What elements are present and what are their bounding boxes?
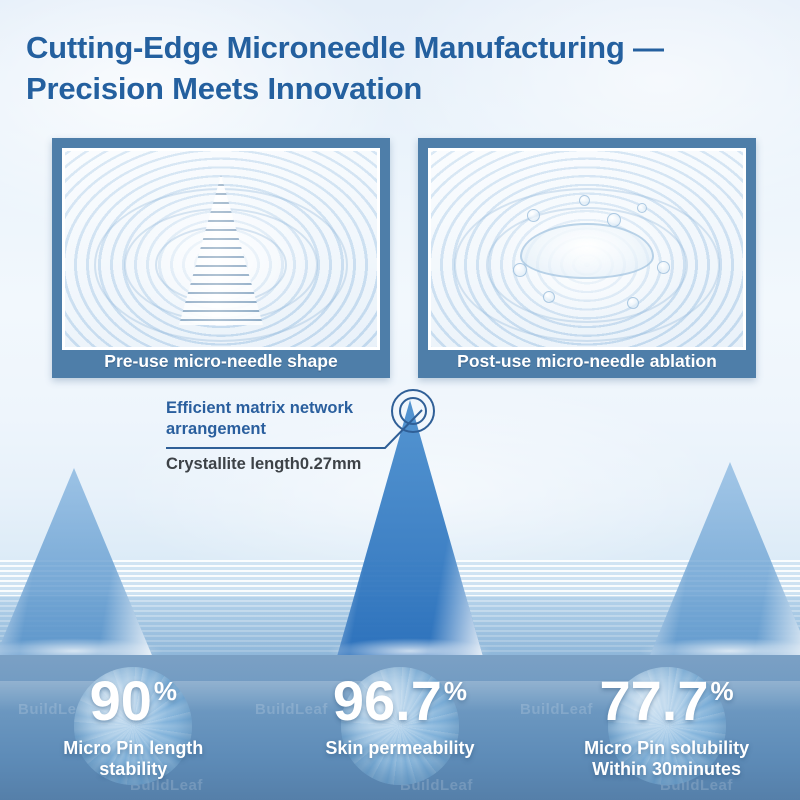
water-droplet-icon bbox=[543, 291, 555, 303]
photo-panel-pre-use: Pre-use micro-needle shape bbox=[52, 138, 390, 378]
microneedle-left bbox=[0, 468, 154, 660]
stat-unit: % bbox=[444, 676, 467, 706]
annotation-headline: Efficient matrix network arrangement bbox=[166, 398, 398, 440]
page-title: Cutting-Edge Microneedle Manufacturing —… bbox=[26, 28, 786, 110]
page-title-line-2: Precision Meets Innovation bbox=[26, 69, 786, 110]
water-droplet-icon bbox=[657, 261, 670, 274]
annotation-headline-line-1: Efficient matrix network bbox=[166, 398, 398, 419]
photo-frame-post-use bbox=[428, 148, 746, 350]
stat-label: Micro Pin length stability bbox=[0, 738, 267, 780]
stat-value: 77.7% bbox=[533, 673, 800, 729]
water-droplet-icon bbox=[579, 195, 590, 206]
photo-panel-post-use: Post-use micro-needle ablation bbox=[418, 138, 756, 378]
stat-value: 96.7% bbox=[267, 673, 534, 729]
microneedle-left-highlight bbox=[0, 468, 154, 660]
water-droplet-icon bbox=[607, 213, 621, 227]
poster-canvas: Cutting-Edge Microneedle Manufacturing —… bbox=[0, 0, 800, 800]
annotation-headline-line-2: arrangement bbox=[166, 419, 398, 440]
water-droplet-icon bbox=[637, 203, 647, 213]
stat-label-line-1: Skin permeability bbox=[267, 738, 534, 759]
photo-caption-post-use: Post-use micro-needle ablation bbox=[418, 344, 756, 378]
page-title-line-1: Cutting-Edge Microneedle Manufacturing — bbox=[26, 28, 786, 69]
stat-card-skin-permeability: 96.7% Skin permeability bbox=[267, 655, 534, 800]
microneedle-right bbox=[648, 462, 800, 660]
stat-label: Skin permeability bbox=[267, 738, 534, 759]
target-circle-icon bbox=[391, 389, 435, 433]
stat-number: 77.7 bbox=[600, 669, 709, 732]
stat-label-line-1: Micro Pin length bbox=[0, 738, 267, 759]
microneedle-cone-photo bbox=[65, 151, 377, 347]
water-droplet-icon bbox=[513, 263, 527, 277]
water-droplet-icon bbox=[527, 209, 540, 222]
stat-card-micro-pin-solubility: 77.7% Micro Pin solubility Within 30minu… bbox=[533, 655, 800, 800]
stat-label: Micro Pin solubility Within 30minutes bbox=[533, 738, 800, 780]
water-droplet-icon bbox=[627, 297, 639, 309]
stat-value: 90% bbox=[0, 673, 267, 729]
stat-unit: % bbox=[711, 676, 734, 706]
stats-band: BuildLeaf BuildLeaf BuildLeaf BuildLeaf … bbox=[0, 655, 800, 800]
stat-card-micro-pin-length-stability: 90% Micro Pin length stability bbox=[0, 655, 267, 800]
stat-unit: % bbox=[154, 676, 177, 706]
stat-label-line-1: Micro Pin solubility bbox=[533, 738, 800, 759]
photo-caption-pre-use: Pre-use micro-needle shape bbox=[52, 344, 390, 378]
annotation-subtext: Crystallite length0.27mm bbox=[166, 455, 466, 474]
stat-label-line-2: Within 30minutes bbox=[533, 759, 800, 780]
stat-label-line-2: stability bbox=[0, 759, 267, 780]
microneedle-right-highlight bbox=[648, 462, 800, 660]
water-splash-photo bbox=[431, 151, 743, 347]
photo-frame-pre-use bbox=[62, 148, 380, 350]
stat-number: 96.7 bbox=[333, 669, 442, 732]
stat-number: 90 bbox=[90, 669, 152, 732]
